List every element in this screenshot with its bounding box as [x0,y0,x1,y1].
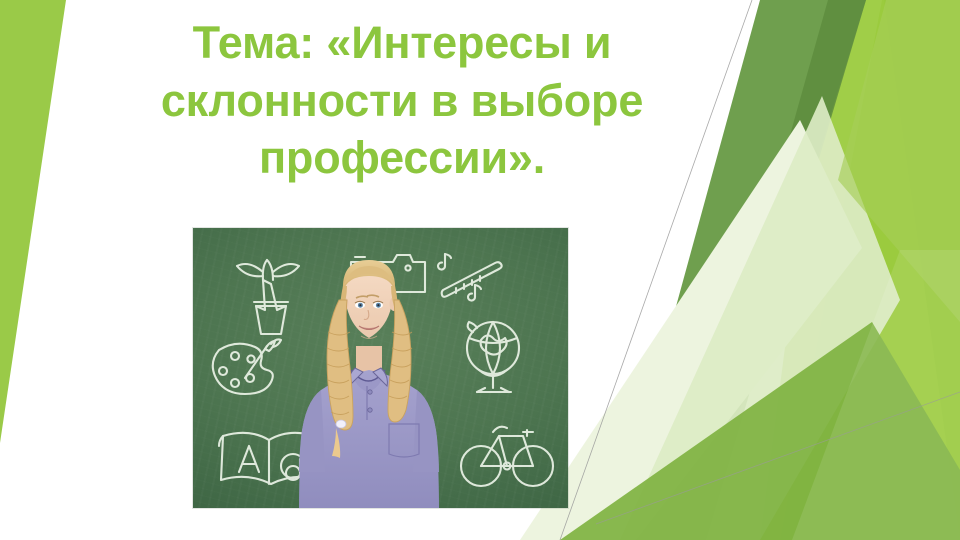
left-green-wedge [0,0,66,443]
title-line-3: профессии». [92,129,712,187]
translucent-sheet-right [792,250,960,540]
slide-title: Тема: «Интересы и склонности в выборе пр… [92,14,712,187]
right-bright-green-field-2 [760,0,960,540]
right-bright-green-field [780,0,960,540]
slide-photo [193,228,568,508]
title-line-1: Тема: «Интересы и [92,14,712,72]
student-photo-figure [193,228,568,508]
hairline-diagonal-secondary [596,392,960,524]
presentation-slide: Тема: «Интересы и склонности в выборе пр… [0,0,960,540]
mid-green-wedge [560,322,960,540]
photo-alt-text: Девочка с косичками на фоне зелёной школ… [0,0,1,1]
light-overlay-upper-right [838,0,960,322]
title-line-2: склонности в выборе [92,72,712,130]
book-letters: A a [0,0,1,1]
